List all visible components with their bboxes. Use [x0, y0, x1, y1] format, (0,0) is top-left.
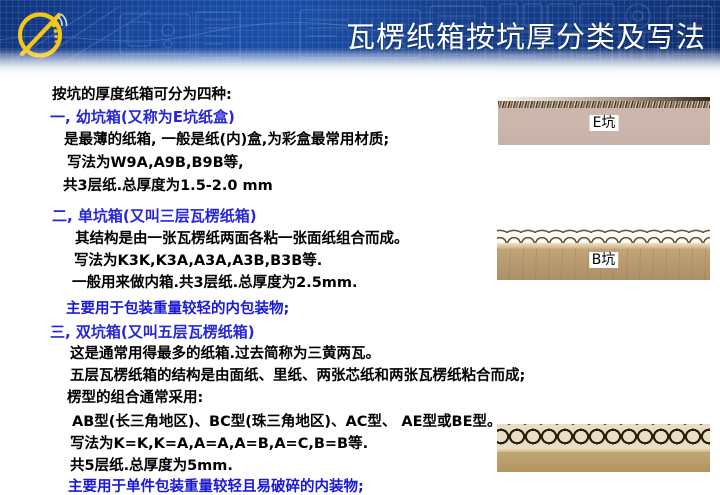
section-3-line-2: 五层瓦楞纸箱的结构是由面纸、里纸、两张芯纸和两张瓦楞纸粘合而成; — [70, 369, 525, 384]
b-flute-caption: B坑 — [589, 252, 619, 268]
section-2-note: 主要用于包装重量较轻的内包装物; — [66, 302, 289, 317]
section-1-line-1: 是最薄的纸箱, 一般是纸(内)盒,为彩盒最常用材质; — [64, 133, 389, 148]
b-flute-sample: B坑 — [497, 228, 710, 280]
e-flute-caption: E坑 — [590, 115, 619, 131]
intro-line: 按坑的厚度纸箱可分为四种: — [52, 88, 232, 103]
section-1-line-3: 共3层纸.总厚度为1.5-2.0 mm — [63, 179, 273, 194]
b-flute-arches — [497, 228, 710, 244]
banner-bottom-fade — [0, 48, 720, 78]
slide-header-banner: 瓦楞纸箱按坑厚分类及写法 — [0, 0, 720, 78]
section-2-line-1: 其结构是由一张瓦楞纸两面各粘一张面纸组合而成。 — [75, 232, 409, 247]
section-2-heading: 二, 单坑箱(又叫三层瓦楞纸箱) — [52, 209, 257, 224]
e-flute-edge — [498, 101, 710, 108]
section-3-line-6: 共5层纸.总厚度为5mm. — [70, 459, 233, 474]
e-flute-top-shadow — [498, 97, 710, 101]
section-2-line-3: 一般用来做内箱.共3层纸.总厚度为2.5mm. — [72, 276, 358, 291]
section-3-line-3: 楞型的组合通常采用: — [67, 391, 203, 406]
section-1-line-2: 写法为W9A,A9B,B9B等, — [67, 156, 244, 171]
section-1-heading: 一, 幼坑箱(又称为E坑纸盒) — [50, 110, 235, 125]
section-3-line-4: AB型(长三角地区)、BC型(珠三角地区)、AC型、 AE型或BE型。 — [72, 415, 501, 430]
section-2-line-2: 写法为K3K,K3A,A3A,A3B,B3B等. — [74, 254, 322, 269]
section-3-heading: 三, 双坑箱(又叫五层瓦楞纸箱) — [50, 325, 255, 340]
ab-flute-sample — [497, 424, 710, 472]
section-3-line-1: 这是通常用得最多的纸箱.过去简称为三黄两瓦。 — [70, 347, 380, 362]
section-3-note: 主要用于单件包装重量较轻且易破碎的内装物; — [68, 480, 364, 495]
ab-flute-kraft-face — [497, 452, 710, 472]
section-3-line-5: 写法为K=K,K=A,A=A,A=B,A=C,B=B等. — [70, 437, 368, 452]
e-flute-sample: E坑 — [498, 97, 710, 145]
